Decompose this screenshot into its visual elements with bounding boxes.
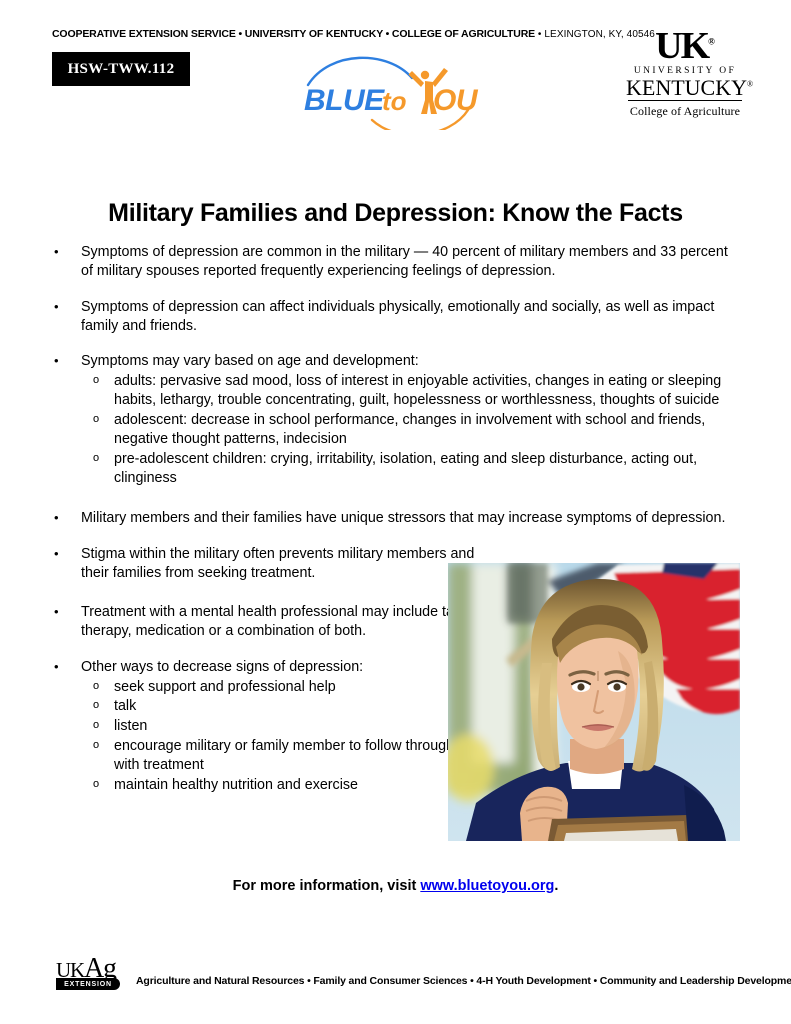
extension-service-header: COOPERATIVE EXTENSION SERVICE • UNIVERSI… bbox=[52, 28, 655, 40]
svg-text:to: to bbox=[382, 86, 407, 116]
uk-college-of-agriculture-logo: UK® UNIVERSITY OF KENTUCKY® College of A… bbox=[626, 28, 744, 119]
bullet-marker-icon: • bbox=[54, 243, 59, 260]
bullet-item: • Symptoms of depression can affect indi… bbox=[52, 298, 742, 336]
sub-bullet-marker-icon: o bbox=[93, 451, 99, 466]
more-information-line: For more information, visit www.bluetoyo… bbox=[0, 878, 791, 894]
bullet-item: • Other ways to decrease signs of depres… bbox=[52, 658, 476, 795]
sublist-item: o adolescent: decrease in school perform… bbox=[81, 411, 742, 449]
sub-bullet-marker-icon: o bbox=[93, 718, 99, 733]
photo-illustration bbox=[448, 563, 740, 841]
sublist-item: o encourage military or family member to… bbox=[81, 737, 476, 775]
blue-to-you-logo-graphic: BLUE to OU bbox=[300, 52, 510, 130]
sublist-item-text: seek support and professional help bbox=[114, 679, 336, 695]
bullet-marker-icon: • bbox=[54, 352, 59, 369]
sublist-item-text: adolescent: decrease in school performan… bbox=[114, 412, 705, 447]
svg-text:BLUE: BLUE bbox=[304, 84, 385, 117]
uk-college-label: College of Agriculture bbox=[626, 104, 744, 119]
bluetoyou-website-link[interactable]: www.bluetoyou.org bbox=[420, 878, 554, 894]
extension-badge: EXTENSION bbox=[56, 978, 120, 990]
extension-badge-text: EXTENSION bbox=[64, 981, 112, 988]
publication-code-badge: HSW-TWW.112 bbox=[52, 52, 190, 86]
sub-bullet-marker-icon: o bbox=[93, 777, 99, 792]
sublist-item: o maintain healthy nutrition and exercis… bbox=[81, 776, 476, 795]
bullet-marker-icon: • bbox=[54, 658, 59, 675]
bullet-marker-icon: • bbox=[54, 545, 59, 562]
sublist-item: o seek support and professional help bbox=[81, 678, 476, 697]
sub-bullet-marker-icon: o bbox=[93, 698, 99, 713]
sub-bullet-marker-icon: o bbox=[93, 679, 99, 694]
bullet-text: Other ways to decrease signs of depressi… bbox=[81, 659, 363, 675]
bullet-marker-icon: • bbox=[54, 509, 59, 526]
uk-logo-divider bbox=[628, 100, 742, 101]
bullet-item: • Symptoms may vary based on age and dev… bbox=[52, 352, 742, 487]
bullet-text: Symptoms of depression can affect indivi… bbox=[81, 299, 714, 334]
bullet-item: • Military members and their families ha… bbox=[52, 509, 742, 528]
bullet-item: • Stigma within the military often preve… bbox=[52, 545, 476, 583]
bullet-text: Symptoms may vary based on age and devel… bbox=[81, 353, 419, 369]
sublist-item: o listen bbox=[81, 717, 476, 736]
kentucky-registered-mark: ® bbox=[747, 80, 753, 89]
svg-text:OU: OU bbox=[433, 84, 479, 117]
sublist-item: o pre-adolescent children: crying, irrit… bbox=[81, 450, 742, 488]
uk-kentucky-wordmark: KENTUCKY® bbox=[626, 76, 744, 99]
sublist-item-text: encourage military or family member to f… bbox=[114, 738, 454, 773]
bullet-item: • Treatment with a mental health profess… bbox=[52, 603, 476, 641]
blue-to-you-logo: BLUE to OU bbox=[300, 52, 510, 130]
sublist-item-text: talk bbox=[114, 698, 136, 714]
photo-woman-with-flag bbox=[448, 563, 740, 841]
page-footer: UKAg EXTENSION Agriculture and Natural R… bbox=[56, 955, 791, 997]
bullet-marker-icon: • bbox=[54, 298, 59, 315]
sublist-item-text: pre-adolescent children: crying, irritab… bbox=[114, 451, 697, 486]
sublist-item: o talk bbox=[81, 697, 476, 716]
uk-monogram: UK® bbox=[626, 28, 744, 64]
sub-bullet-marker-icon: o bbox=[93, 738, 99, 753]
bullet-item: • Symptoms of depression are common in t… bbox=[52, 243, 742, 281]
sublist-item-text: maintain healthy nutrition and exercise bbox=[114, 777, 358, 793]
footer-program-areas: Agriculture and Natural Resources • Fami… bbox=[136, 975, 791, 997]
publication-code-text: HSW-TWW.112 bbox=[68, 61, 175, 78]
sub-bullet-marker-icon: o bbox=[93, 412, 99, 427]
uk-ag-extension-logo: UKAg EXTENSION bbox=[56, 955, 128, 997]
bullet-text: Military members and their families have… bbox=[81, 510, 725, 526]
uk-registered-mark: ® bbox=[708, 36, 715, 46]
more-info-prefix: For more information, visit bbox=[233, 878, 421, 894]
more-info-suffix: . bbox=[554, 878, 558, 894]
uk-kentucky-text: KENTUCKY bbox=[626, 75, 747, 100]
uk-monogram-text: UK bbox=[655, 25, 708, 67]
sublist-item-text: adults: pervasive sad mood, loss of inte… bbox=[114, 373, 721, 408]
bullet-sublist: o adults: pervasive sad mood, loss of in… bbox=[81, 372, 742, 487]
sub-bullet-marker-icon: o bbox=[93, 373, 99, 388]
bullet-text: Symptoms of depression are common in the… bbox=[81, 244, 728, 279]
document-page: COOPERATIVE EXTENSION SERVICE • UNIVERSI… bbox=[0, 0, 791, 1024]
sublist-item-text: listen bbox=[114, 718, 147, 734]
bullet-marker-icon: • bbox=[54, 603, 59, 620]
bullet-text: Stigma within the military often prevent… bbox=[81, 546, 474, 581]
bullet-text: Treatment with a mental health professio… bbox=[81, 604, 464, 639]
header-agency-bold: COOPERATIVE EXTENSION SERVICE • UNIVERSI… bbox=[52, 28, 535, 40]
bullet-sublist: o seek support and professional help o t… bbox=[81, 678, 476, 795]
page-title: Military Families and Depression: Know t… bbox=[0, 199, 791, 228]
sublist-item: o adults: pervasive sad mood, loss of in… bbox=[81, 372, 742, 410]
